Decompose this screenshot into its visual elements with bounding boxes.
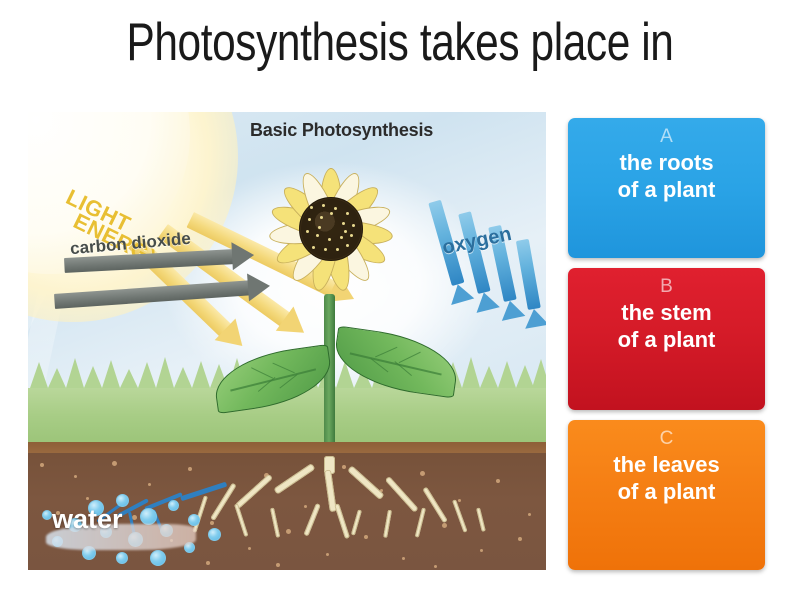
- answer-text-b: the stem of a plant: [618, 300, 716, 354]
- answer-option-c[interactable]: C the leaves of a plant: [568, 420, 765, 570]
- answer-letter-a: A: [660, 127, 673, 148]
- answer-option-b[interactable]: B the stem of a plant: [568, 268, 765, 410]
- answer-letter-b: B: [660, 277, 673, 298]
- answer-letter-c: C: [660, 429, 674, 450]
- water-label: water: [52, 504, 123, 535]
- plant-stem: [324, 294, 335, 460]
- quiz-page: Photosynthesis takes place in LIGHT ENER…: [0, 0, 800, 600]
- flower-center: [299, 197, 363, 261]
- answer-text-a: the roots of a plant: [618, 150, 716, 204]
- answer-option-a[interactable]: A the roots of a plant: [568, 118, 765, 258]
- illustration-title: Basic Photosynthesis: [250, 120, 433, 141]
- photosynthesis-illustration: LIGHT ENERGY: [28, 112, 546, 570]
- answer-text-c: the leaves of a plant: [613, 452, 719, 506]
- page-title: Photosynthesis takes place in: [80, 14, 720, 71]
